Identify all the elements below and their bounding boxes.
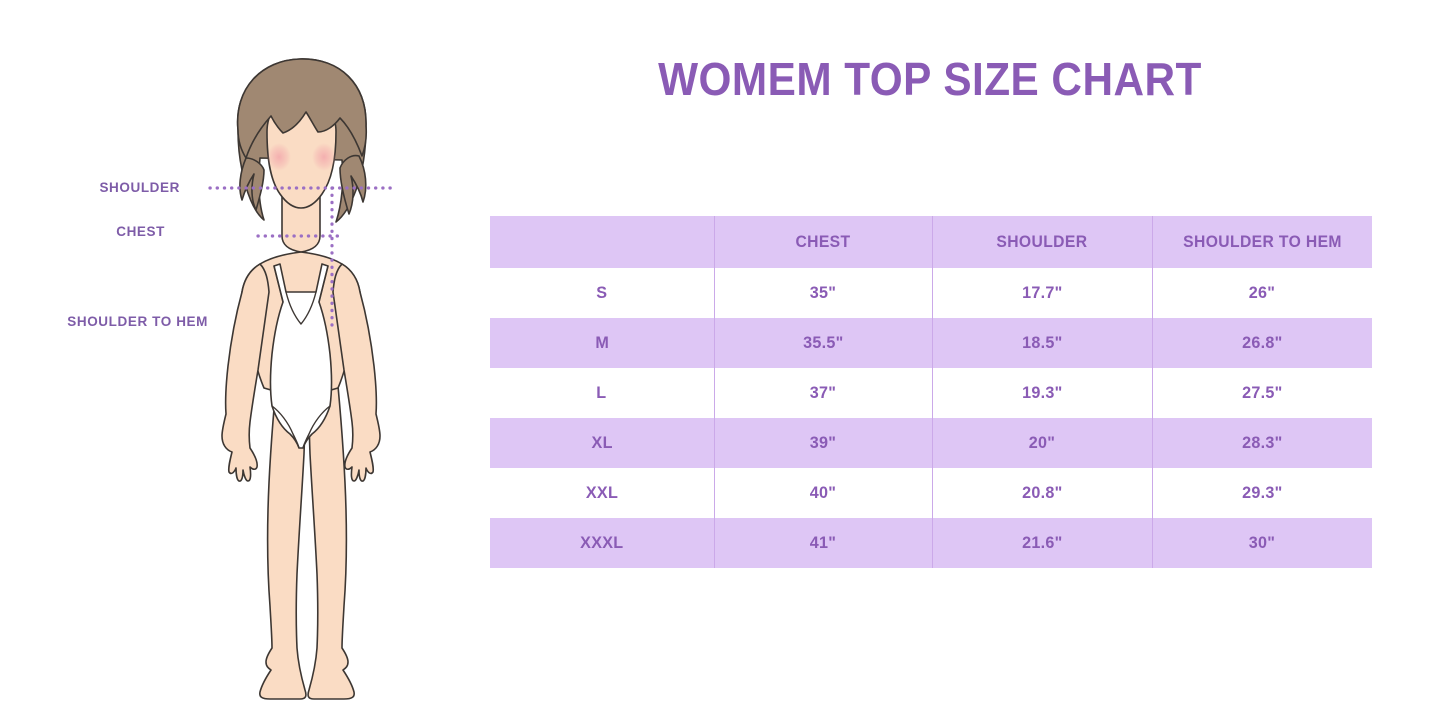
cell-shoulder-to-hem-value: 30": [1249, 533, 1275, 553]
cell-chest: 37": [714, 368, 932, 418]
cell-shoulder-value: 20": [1029, 433, 1055, 453]
column-header-shoulder-to-hem-label: SHOULDER TO HEM: [1183, 233, 1342, 252]
cell-chest: 40": [714, 468, 932, 518]
cell-size-value: XXL: [586, 483, 618, 503]
cell-shoulder-to-hem-value: 29.3": [1242, 483, 1283, 503]
cell-shoulder-to-hem-value: 26.8": [1242, 333, 1283, 353]
cell-shoulder-to-hem: 30": [1152, 518, 1372, 568]
blush-right: [312, 143, 336, 171]
column-header-size: [490, 216, 714, 268]
cell-size: XXL: [490, 468, 714, 518]
cell-shoulder: 17.7": [932, 268, 1152, 318]
cell-size: M: [490, 318, 714, 368]
cell-shoulder-to-hem: 27.5": [1152, 368, 1372, 418]
female-figure-svg: [150, 40, 460, 700]
cell-shoulder-value: 19.3": [1022, 383, 1063, 403]
table-header-row: CHEST SHOULDER SHOULDER TO HEM: [490, 216, 1372, 268]
table-row: XL 39" 20" 28.3": [490, 418, 1372, 468]
leg-right-shape: [308, 386, 354, 699]
cell-size: S: [490, 268, 714, 318]
table-row: XXXL 41" 21.6" 30": [490, 518, 1372, 568]
cell-shoulder-to-hem: 29.3": [1152, 468, 1372, 518]
cell-chest-value: 41": [810, 533, 836, 553]
page-title: WOMEM TOP SIZE CHART: [516, 52, 1344, 106]
cell-size: L: [490, 368, 714, 418]
cell-chest: 35.5": [714, 318, 932, 368]
size-chart-page: WOMEM TOP SIZE CHART SHOULDER CHEST SHOU…: [0, 0, 1445, 723]
measurement-label-chest: CHEST: [0, 224, 165, 239]
cell-size-value: M: [595, 333, 609, 353]
cell-size-value: S: [596, 283, 607, 303]
cell-shoulder-to-hem-value: 27.5": [1242, 383, 1283, 403]
cell-shoulder-value: 17.7": [1022, 283, 1063, 303]
cell-shoulder: 20": [932, 418, 1152, 468]
cell-shoulder-to-hem: 26": [1152, 268, 1372, 318]
cell-shoulder-value: 18.5": [1022, 333, 1063, 353]
body-figure-illustration: [150, 40, 460, 700]
cell-size: XL: [490, 418, 714, 468]
cell-chest-value: 39": [810, 433, 836, 453]
cell-chest: 41": [714, 518, 932, 568]
cell-size-value: XL: [591, 433, 612, 453]
table-row: L 37" 19.3" 27.5": [490, 368, 1372, 418]
size-chart-table: CHEST SHOULDER SHOULDER TO HEM S 35" 17.…: [490, 216, 1372, 568]
cell-chest: 35": [714, 268, 932, 318]
cell-shoulder-to-hem-value: 26": [1249, 283, 1275, 303]
cell-chest-value: 37": [810, 383, 836, 403]
cell-shoulder: 20.8": [932, 468, 1152, 518]
table-row: XXL 40" 20.8" 29.3": [490, 468, 1372, 518]
cell-shoulder: 19.3": [932, 368, 1152, 418]
cell-shoulder-to-hem-value: 28.3": [1242, 433, 1283, 453]
table-row: S 35" 17.7" 26": [490, 268, 1372, 318]
cell-shoulder-to-hem: 28.3": [1152, 418, 1372, 468]
swimsuit-shape: [271, 264, 332, 448]
cell-chest: 39": [714, 418, 932, 468]
cell-chest-value: 35": [810, 283, 836, 303]
cell-chest-value: 40": [810, 483, 836, 503]
cell-shoulder: 21.6": [932, 518, 1152, 568]
column-header-shoulder-to-hem: SHOULDER TO HEM: [1152, 216, 1372, 268]
column-header-shoulder: SHOULDER: [932, 216, 1152, 268]
cell-size-value: XXXL: [580, 533, 623, 553]
cell-chest-value: 35.5": [803, 333, 844, 353]
cell-shoulder-value: 20.8": [1022, 483, 1063, 503]
column-header-chest-label: CHEST: [795, 233, 850, 252]
column-header-shoulder-label: SHOULDER: [996, 233, 1087, 252]
cell-shoulder-to-hem: 26.8": [1152, 318, 1372, 368]
cell-shoulder: 18.5": [932, 318, 1152, 368]
cell-size: XXXL: [490, 518, 714, 568]
table-row: M 35.5" 18.5" 26.8": [490, 318, 1372, 368]
cell-size-value: L: [597, 383, 607, 403]
column-header-chest: CHEST: [714, 216, 932, 268]
cell-shoulder-value: 21.6": [1022, 533, 1063, 553]
blush-left: [267, 143, 291, 171]
